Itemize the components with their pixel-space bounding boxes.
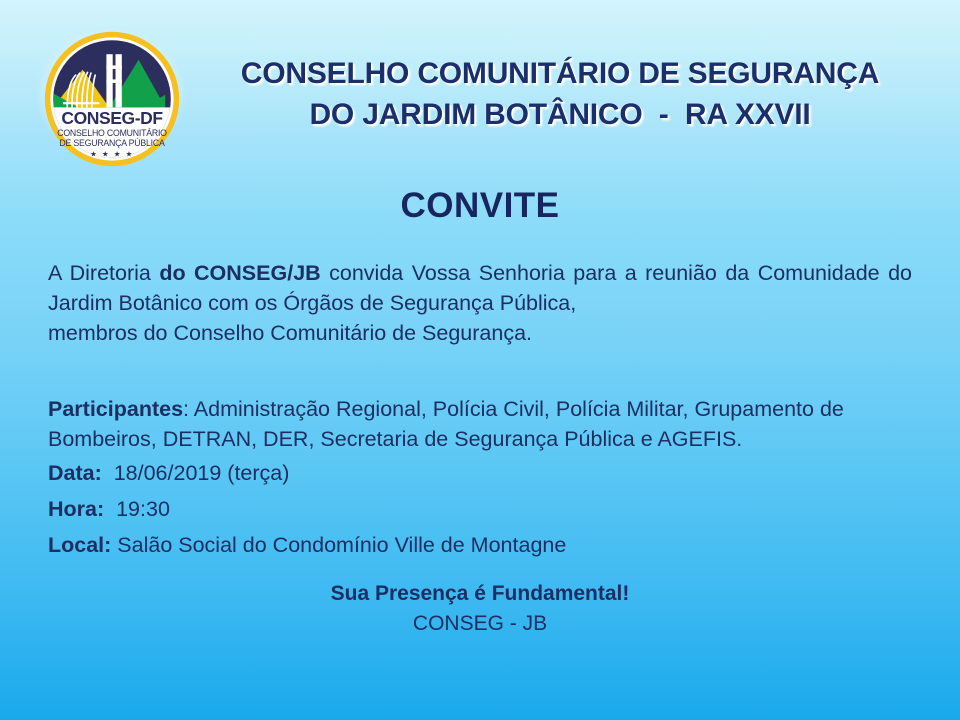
section-heading-convite: CONVITE [0, 186, 960, 226]
detail-row-hora: Hora: 19:30 [48, 495, 170, 523]
logo-subtitle-line1: CONSELHO COMUNITÁRIO [57, 128, 167, 138]
invitation-poster: CONSEG-DF CONSELHO COMUNITÁRIO DE SEGURA… [0, 0, 960, 720]
participants-value: Administração Regional, Polícia Civil, P… [194, 397, 844, 421]
logo-subtitle-line2: DE SEGURANÇA PÚBLICA [59, 138, 165, 148]
detail-value-local: Salão Social do Condomínio Ville de Mont… [111, 533, 566, 557]
intro-bold-conseg-jb: do CONSEG/JB [159, 261, 320, 285]
detail-value-data: 18/06/2019 (terça) [102, 461, 290, 485]
detail-row-local: Local: Salão Social do Condomínio Ville … [48, 531, 566, 559]
page-title-line-2: DO JARDIM BOTÂNICO - RA XXVII [170, 94, 950, 135]
participants-separator: : [183, 397, 194, 421]
detail-label-hora: Hora: [48, 497, 104, 521]
intro-paragraph: A Diretoria do CONSEG/JB convida Vossa S… [48, 258, 912, 348]
footer-signature: CONSEG - JB [0, 612, 960, 636]
page-title: CONSELHO COMUNITÁRIO DE SEGURANÇA DO JAR… [170, 53, 950, 135]
detail-value-hora: 19:30 [104, 497, 170, 521]
detail-label-local: Local: [48, 533, 111, 557]
detail-row-data: Data: 18/06/2019 (terça) [48, 459, 289, 487]
conseg-df-badge-icon: CONSEG-DF CONSELHO COMUNITÁRIO DE SEGURA… [42, 29, 182, 169]
page-title-line-1: CONSELHO COMUNITÁRIO DE SEGURANÇA [170, 53, 950, 94]
logo-stars: ★ ★ ★ ★ [90, 149, 134, 158]
participants-paragraph: Participantes: Administração Regional, P… [48, 394, 914, 454]
intro-part-1: A Diretoria [48, 261, 159, 285]
footer-call-to-action: Sua Presença é Fundamental! [0, 582, 960, 606]
participants-label: Participantes [48, 397, 183, 421]
participants-last-line: Bombeiros, DETRAN, DER, Secretaria de Se… [48, 424, 914, 454]
detail-label-data: Data: [48, 461, 102, 485]
intro-last-line: membros do Conselho Comunitário de Segur… [48, 318, 912, 348]
logo-acronym: CONSEG-DF [61, 108, 163, 128]
